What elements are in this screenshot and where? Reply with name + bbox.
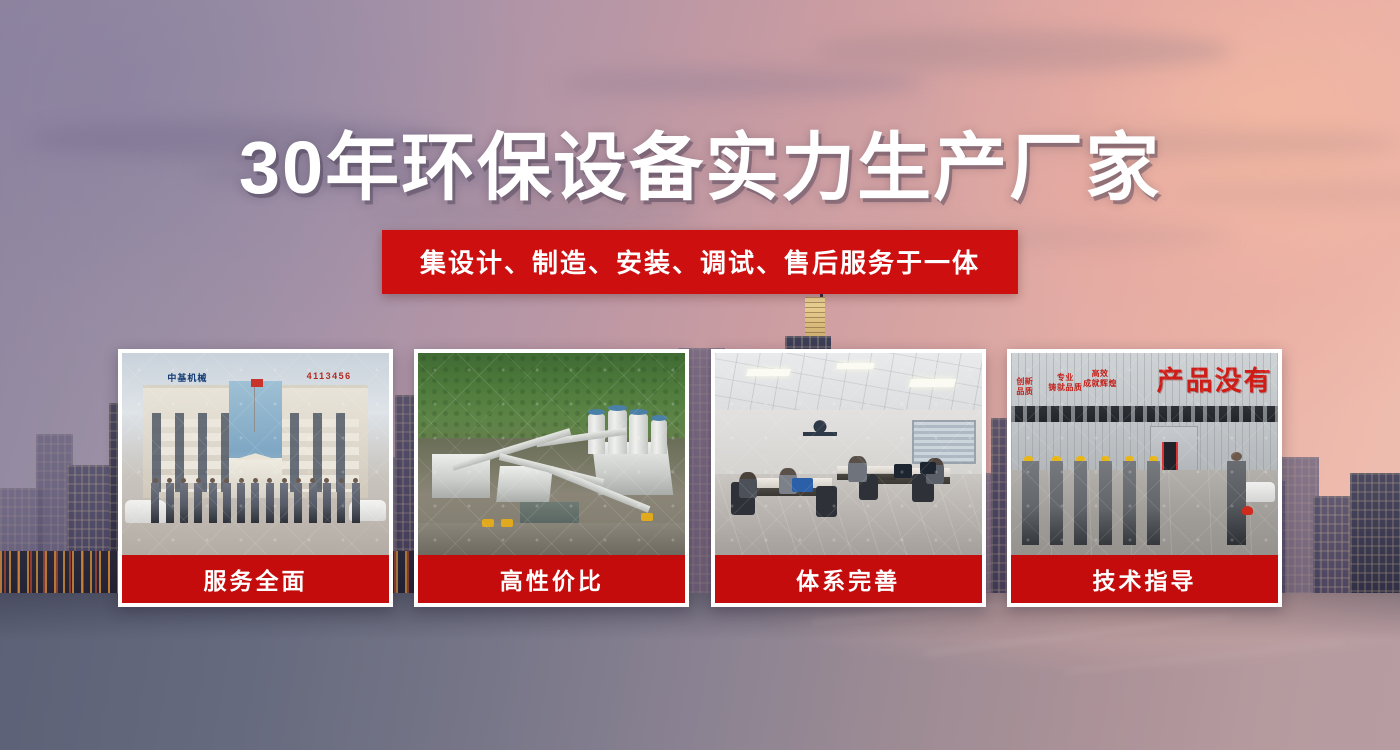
promo-banner: 30年环保设备实力生产厂家 集设计、制造、安装、调试、售后服务于一体 中基机械 … bbox=[0, 0, 1400, 750]
banner-subtitle: 集设计、制造、安装、调试、售后服务于一体 bbox=[382, 230, 1018, 294]
wall-decal bbox=[803, 416, 838, 444]
red-helmet-icon bbox=[1242, 506, 1253, 515]
factory-slogan: 高效成就辉煌 bbox=[1083, 369, 1117, 389]
card-photo-workshop: 产品没有 创新品质 专业铸就品质 高效成就辉煌 bbox=[1011, 353, 1278, 555]
card-label: 服务全面 bbox=[122, 555, 389, 603]
building-phone-text: 4113456 bbox=[307, 371, 352, 381]
card-photo-plant bbox=[418, 353, 685, 555]
banner-content: 30年环保设备实力生产厂家 集设计、制造、安装、调试、售后服务于一体 中基机械 … bbox=[0, 0, 1400, 750]
flag-icon bbox=[251, 379, 263, 387]
factory-slogan: 创新品质 bbox=[1016, 377, 1033, 397]
feature-card[interactable]: 中基机械 4113456 服务全面 bbox=[118, 349, 393, 607]
card-photo-office bbox=[715, 353, 982, 555]
card-label: 高性价比 bbox=[418, 555, 685, 603]
card-label: 技术指导 bbox=[1011, 555, 1278, 603]
feature-card[interactable]: 产品没有 创新品质 专业铸就品质 高效成就辉煌 bbox=[1007, 349, 1282, 607]
feature-card[interactable]: 体系完善 bbox=[711, 349, 986, 607]
card-label: 体系完善 bbox=[715, 555, 982, 603]
feature-card-list: 中基机械 4113456 服务全面 bbox=[118, 349, 1282, 607]
feature-card[interactable]: 高性价比 bbox=[414, 349, 689, 607]
card-photo-headquarters: 中基机械 4113456 bbox=[122, 353, 389, 555]
building-sign-text: 中基机械 bbox=[167, 371, 207, 384]
factory-wall-text: 产品没有 bbox=[1157, 359, 1273, 398]
banner-headline: 30年环保设备实力生产厂家 bbox=[0, 131, 1400, 205]
factory-slogan: 专业铸就品质 bbox=[1048, 373, 1082, 393]
